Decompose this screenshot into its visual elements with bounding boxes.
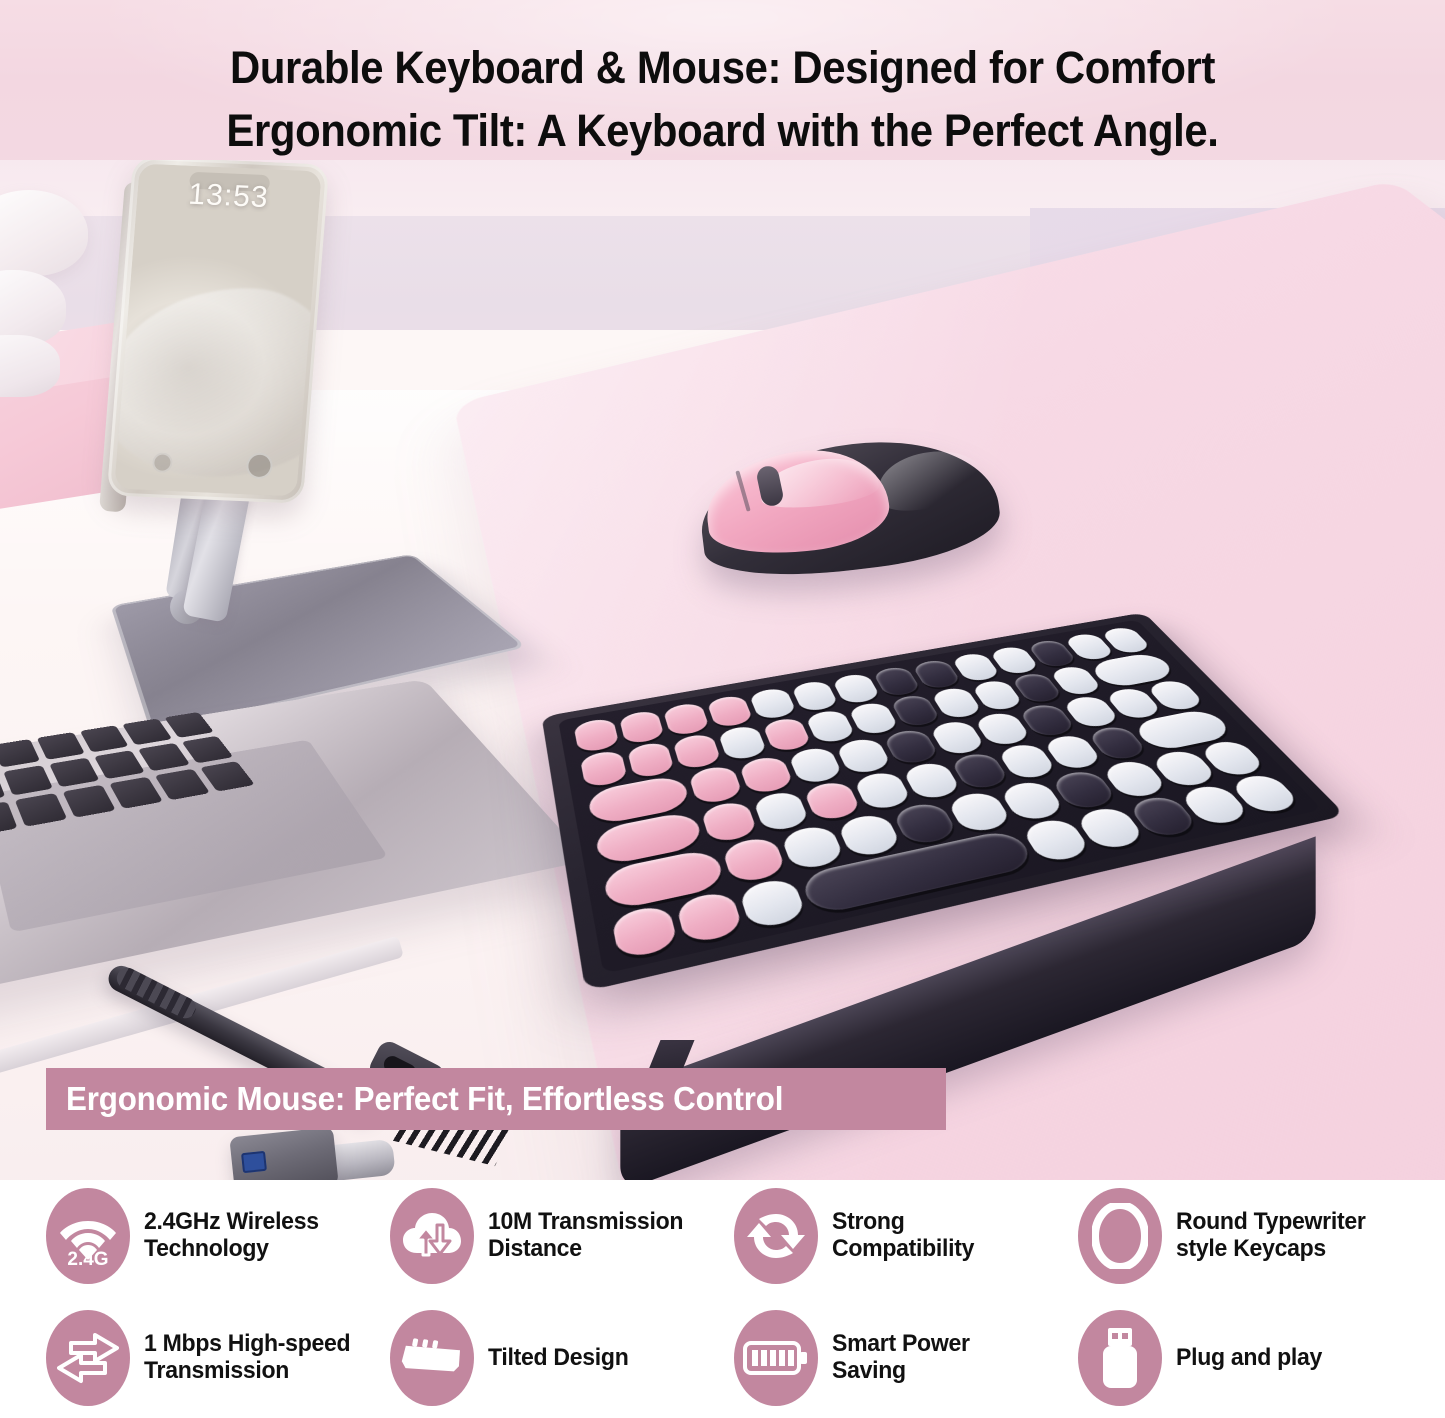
- keycap: [748, 687, 797, 721]
- tilted-keyboard-icon: [390, 1310, 474, 1406]
- feature-label: Round Typewriter style Keycaps: [1176, 1209, 1366, 1263]
- feature-label: Smart Power Saving: [832, 1331, 970, 1385]
- battery-icon: [734, 1310, 818, 1406]
- hero-product-scene: 13:53: [0, 160, 1445, 1180]
- keycap: [662, 702, 709, 737]
- round-keycap-icon: [1078, 1188, 1162, 1284]
- keycap: [891, 801, 959, 847]
- feature-item-tilted-design: Tilted Design: [390, 1304, 728, 1412]
- keycap: [852, 770, 913, 812]
- keycap: [790, 680, 839, 713]
- keycap: [626, 741, 675, 779]
- phone-wallpaper-wave: [114, 282, 322, 482]
- feature-item-power-saving: Smart Power Saving: [734, 1304, 1072, 1412]
- keycap: [805, 709, 857, 745]
- keycap: [580, 749, 628, 788]
- banner-label: Ergonomic Mouse: Perfect Fit, Effortless…: [66, 1080, 783, 1118]
- keycap: [738, 755, 794, 795]
- keycap: [835, 736, 893, 775]
- usb-a-port: [241, 1151, 267, 1173]
- usb-c-adapter-tip: [328, 1139, 395, 1180]
- feature-label: 2.4GHz Wireless Technology: [144, 1209, 319, 1263]
- keycap: [761, 716, 812, 752]
- keycap: [901, 760, 962, 801]
- keycap: [738, 876, 808, 930]
- sync-arrows-icon: [734, 1188, 818, 1284]
- keycap: [717, 724, 767, 761]
- cloud-transfer-icon: [390, 1188, 474, 1284]
- keycap: [836, 812, 903, 859]
- double-arrow-icon: [46, 1310, 130, 1406]
- keycap: [573, 717, 619, 753]
- keycap: [803, 779, 863, 822]
- keycap: [779, 824, 846, 872]
- keycap: [618, 709, 665, 745]
- feature-label: 1 Mbps High-speed Transmission: [144, 1331, 350, 1385]
- keycap: [706, 694, 754, 728]
- keycap: [752, 789, 811, 833]
- feature-item-round-keycaps: Round Typewriter style Keycaps: [1078, 1182, 1416, 1290]
- feature-item-wireless: 2.4G 2.4GHz Wireless Technology: [46, 1182, 384, 1290]
- feature-label: Tilted Design: [488, 1345, 629, 1372]
- mouse-feature-banner: Ergonomic Mouse: Perfect Fit, Effortless…: [46, 1068, 946, 1130]
- headline-band: Durable Keyboard & Mouse: Designed for C…: [0, 0, 1445, 178]
- feature-label: 10M Transmission Distance: [488, 1209, 683, 1263]
- keycap: [672, 732, 722, 770]
- usb-dongle-icon: [1078, 1310, 1162, 1406]
- feature-item-plug-and-play: Plug and play: [1078, 1304, 1416, 1412]
- feature-item-compatibility: Strong Compatibility: [734, 1182, 1072, 1290]
- keycap: [721, 835, 787, 884]
- keycap: [675, 890, 744, 945]
- keycap: [688, 764, 744, 805]
- wifi-band-label: 2.4G: [46, 1249, 130, 1271]
- keycap: [882, 728, 940, 766]
- keycap: [831, 673, 881, 705]
- keycap: [611, 903, 679, 960]
- feature-label: Strong Compatibility: [832, 1209, 974, 1263]
- keycap: [700, 800, 758, 845]
- feature-grid: 2.4G 2.4GHz Wireless Technology 10M Tran…: [46, 1182, 1416, 1412]
- feature-item-high-speed: 1 Mbps High-speed Transmission: [46, 1304, 384, 1412]
- product-listing-image: Durable Keyboard & Mouse: Designed for C…: [0, 0, 1445, 1418]
- keycap: [787, 745, 844, 784]
- phone-screen: 13:53: [114, 164, 322, 497]
- smartphone: 13:53: [107, 160, 330, 504]
- phone-clock: 13:53: [136, 175, 321, 217]
- phone-camera-icon: [245, 452, 273, 479]
- page-title: Durable Keyboard & Mouse: Designed for C…: [51, 36, 1395, 162]
- feature-item-transmission-distance: 10M Transmission Distance: [390, 1182, 728, 1290]
- keycap: [847, 701, 899, 736]
- feature-label: Plug and play: [1176, 1345, 1322, 1372]
- wifi-icon: 2.4G: [46, 1188, 130, 1284]
